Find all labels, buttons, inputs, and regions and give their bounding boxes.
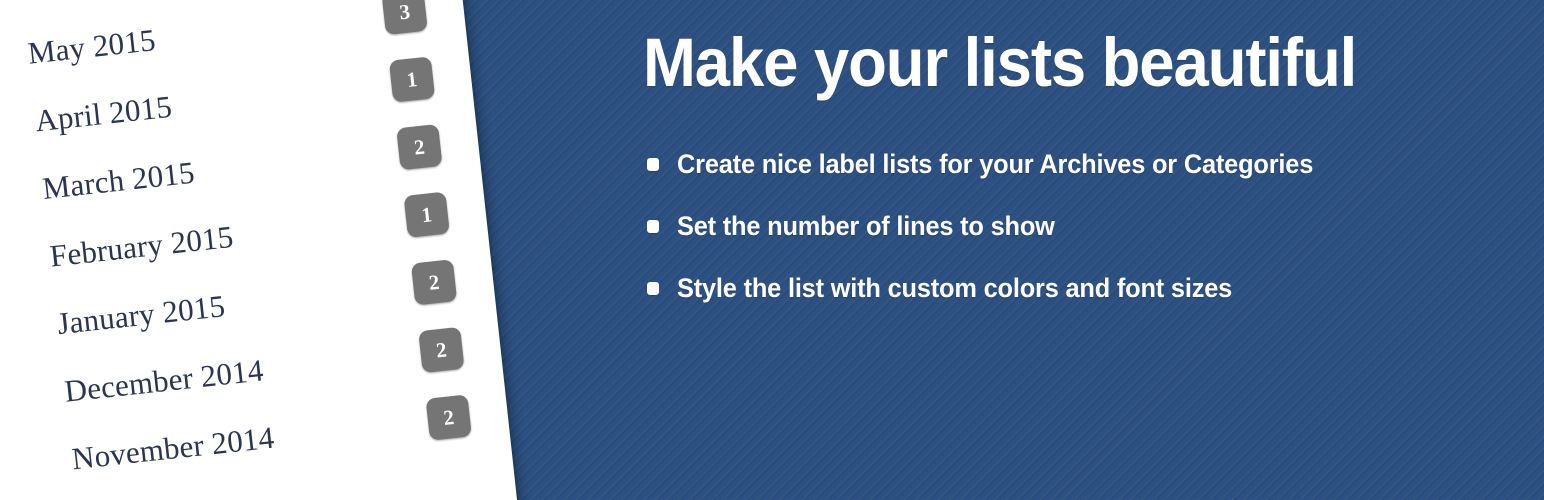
feature-text: Set the number of lines to show [677,213,1055,240]
page-title: Make your lists beautiful [643,28,1356,97]
marketing-copy: Make your lists beautiful Create nice la… [643,0,1503,500]
archive-count-badge: 3 [382,0,428,35]
archive-count-badge: 2 [426,394,472,440]
archive-month-label: February 2015 [48,220,235,271]
feature-list-item: Style the list with custom colors and fo… [647,257,1354,319]
square-bullet-icon [647,282,659,295]
feature-text: Style the list with custom colors and fo… [677,275,1232,302]
widget-card: June 20151May 20153April 20151March 2015… [0,0,524,500]
archive-month-label: November 2014 [70,421,275,474]
feature-list: Create nice label lists for your Archive… [647,133,1354,319]
feature-list-item: Create nice label lists for your Archive… [647,133,1354,195]
archive-month-label: May 2015 [26,24,157,69]
archive-month-label: June 2015 [19,0,150,1]
archive-count-badge: 2 [411,259,457,305]
archive-month-label: March 2015 [41,156,196,203]
archive-month-label: January 2015 [56,290,227,339]
archive-list: June 20151May 20153April 20151March 2015… [0,0,511,500]
archive-count-badge: 1 [404,192,450,238]
archives-widget-preview: June 20151May 20153April 20151March 2015… [0,0,524,500]
promo-banner: June 20151May 20153April 20151March 2015… [0,0,1544,500]
feature-text: Create nice label lists for your Archive… [677,151,1313,178]
square-bullet-icon [647,158,659,171]
square-bullet-icon [647,220,659,233]
archive-count-badge: 2 [396,124,442,170]
archive-count-badge: 2 [418,327,464,373]
archive-month-label: April 2015 [34,90,174,136]
feature-list-item: Set the number of lines to show [647,195,1354,257]
archive-month-label: December 2014 [63,354,265,406]
archive-count-badge: 1 [389,56,435,102]
